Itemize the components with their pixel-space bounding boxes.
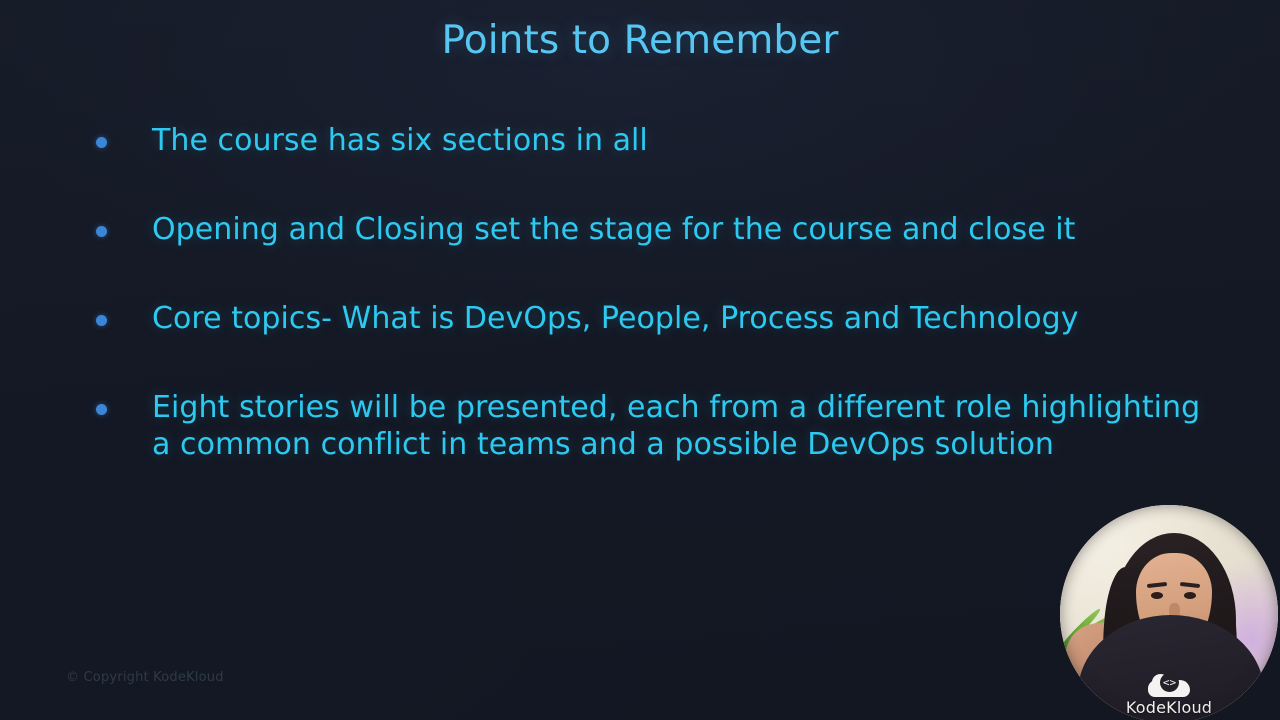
list-item: Core topics- What is DevOps, People, Pro… (96, 300, 1246, 337)
list-item: The course has six sections in all (96, 122, 1246, 159)
presentation-slide: Points to Remember The course has six se… (0, 0, 1280, 720)
bullet-list: The course has six sections in all Openi… (96, 122, 1246, 463)
bullet-dot-icon (96, 226, 107, 237)
slide-title: Points to Remember (0, 18, 1280, 63)
bullet-text: The course has six sections in all (152, 122, 1246, 159)
kodekloud-wordmark: KodeKloud (1060, 698, 1278, 717)
bullet-text: Opening and Closing set the stage for th… (152, 211, 1246, 248)
list-item: Opening and Closing set the stage for th… (96, 211, 1246, 248)
presenter-eyebrow-right (1180, 582, 1200, 588)
presenter-eye-right (1184, 592, 1196, 599)
bullet-line: Opening and Closing set the stage for th… (152, 211, 1246, 248)
list-item: Eight stories will be presented, each fr… (96, 389, 1246, 463)
bullet-dot-icon (96, 404, 107, 415)
bullet-line: a common conflict in teams and a possibl… (152, 426, 1246, 463)
kodekloud-shirt-logo: <> KodeKloud (1060, 673, 1278, 717)
bullet-dot-icon (96, 137, 107, 148)
bullet-line: Eight stories will be presented, each fr… (152, 389, 1246, 426)
presenter-eyebrow-left (1147, 582, 1167, 588)
copyright-notice: © Copyright KodeKloud (66, 670, 224, 685)
presenter-webcam-overlay: <> KodeKloud (1060, 505, 1278, 720)
bullet-dot-icon (96, 315, 107, 326)
bullet-text: Eight stories will be presented, each fr… (152, 389, 1246, 463)
presenter-eye-left (1151, 592, 1163, 599)
bullet-text: Core topics- What is DevOps, People, Pro… (152, 300, 1246, 337)
bullet-line: Core topics- What is DevOps, People, Pro… (152, 300, 1246, 337)
code-brackets-icon: <> (1160, 673, 1179, 692)
bullet-line: The course has six sections in all (152, 122, 1246, 159)
kodekloud-cloud-icon: <> (1148, 673, 1190, 697)
